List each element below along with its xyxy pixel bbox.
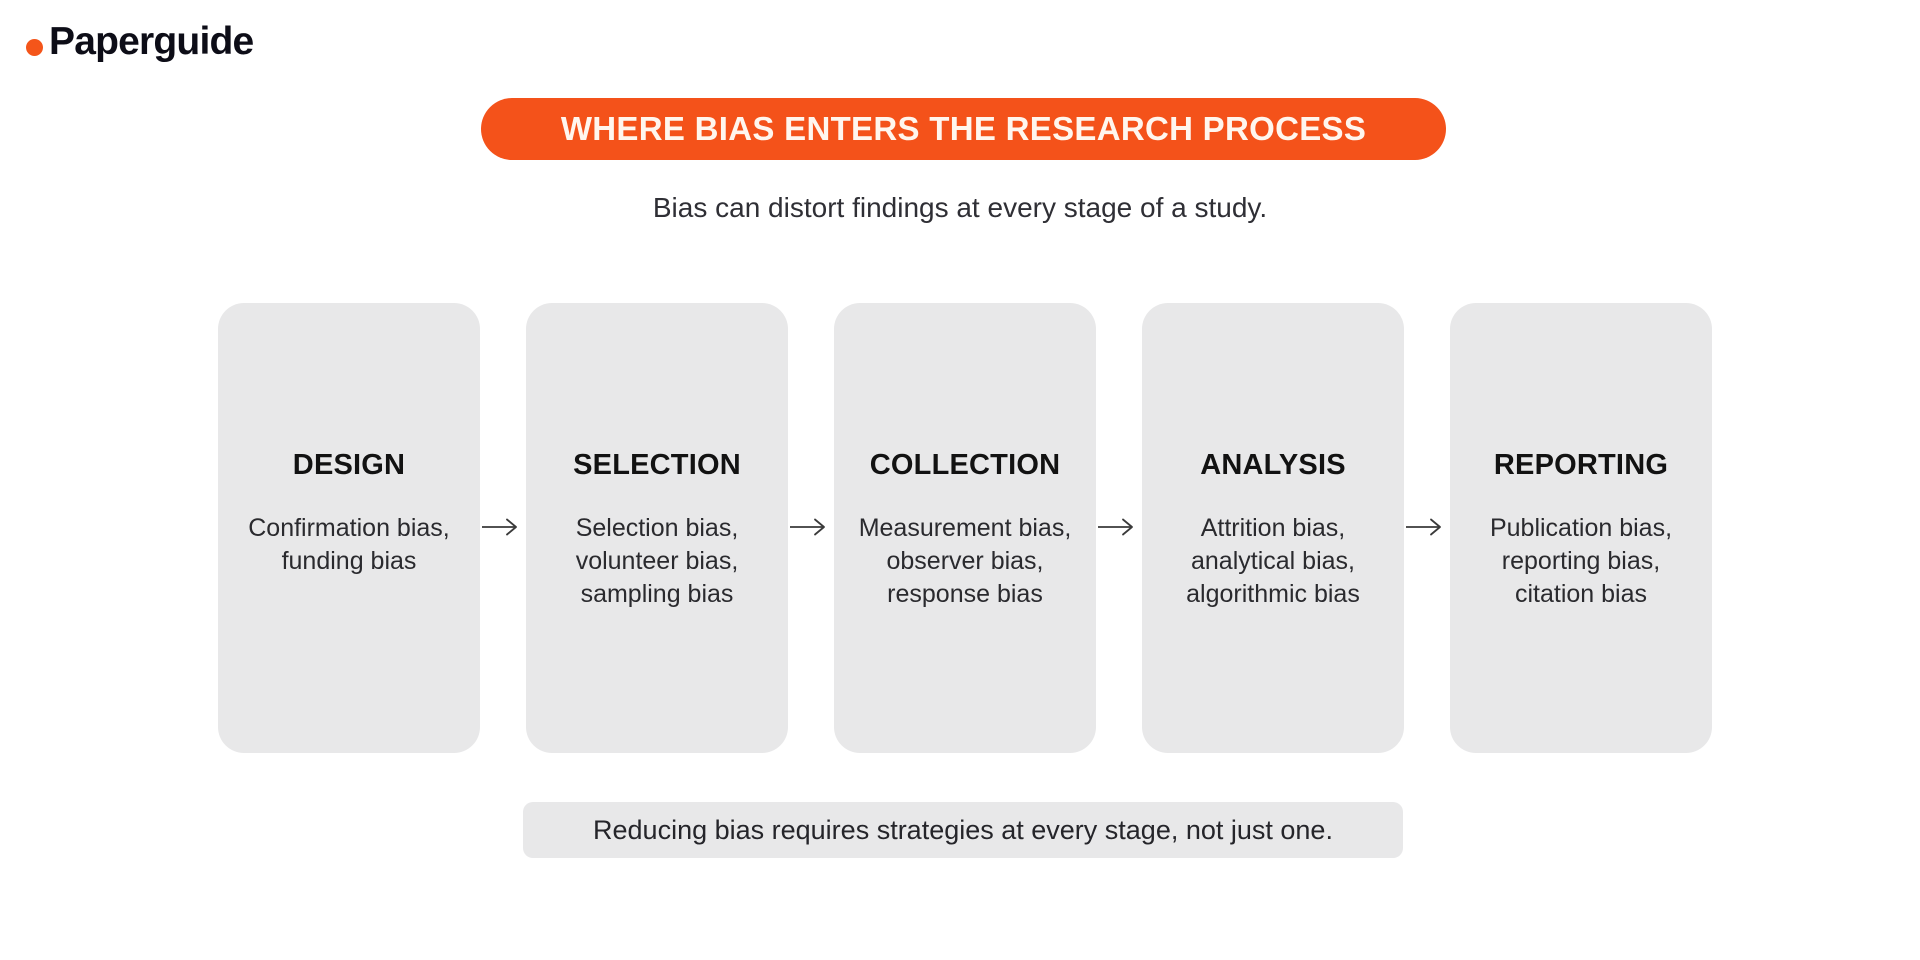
flow-arrow-icon	[1096, 303, 1142, 753]
stage-card-analysis: ANALYSIS Attrition bias, analytical bias…	[1142, 303, 1404, 753]
brand-dot-icon	[26, 39, 43, 56]
page-title: WHERE BIAS ENTERS THE RESEARCH PROCESS	[561, 110, 1366, 148]
flow-arrow-icon	[480, 303, 526, 753]
stage-title: SELECTION	[573, 449, 741, 482]
flow-arrow-icon	[788, 303, 834, 753]
stage-card-reporting: REPORTING Publication bias, reporting bi…	[1450, 303, 1712, 753]
stage-title: ANALYSIS	[1200, 449, 1346, 482]
stage-title: REPORTING	[1494, 449, 1668, 482]
bias-stage-flow: DESIGN Confirmation bias, funding bias S…	[218, 303, 1704, 753]
stage-description: Publication bias, reporting bias, citati…	[1462, 512, 1700, 611]
stage-title: COLLECTION	[870, 449, 1061, 482]
stage-description: Selection bias, volunteer bias, sampling…	[538, 512, 776, 611]
stage-title: DESIGN	[293, 449, 405, 482]
flow-arrow-icon	[1404, 303, 1450, 753]
brand-name: Paperguide	[49, 22, 253, 61]
brand-logo: Paperguide	[26, 22, 253, 61]
stage-description: Attrition bias, analytical bias, algorit…	[1154, 512, 1392, 611]
page-subtitle: Bias can distort findings at every stage…	[0, 192, 1920, 224]
stage-description: Measurement bias, observer bias, respons…	[846, 512, 1084, 611]
footer-note-text: Reducing bias requires strategies at eve…	[593, 815, 1333, 846]
footer-note: Reducing bias requires strategies at eve…	[523, 802, 1403, 858]
stage-card-design: DESIGN Confirmation bias, funding bias	[218, 303, 480, 753]
stage-description: Confirmation bias, funding bias	[230, 512, 468, 578]
stage-card-selection: SELECTION Selection bias, volunteer bias…	[526, 303, 788, 753]
stage-card-collection: COLLECTION Measurement bias, observer bi…	[834, 303, 1096, 753]
title-banner: WHERE BIAS ENTERS THE RESEARCH PROCESS	[481, 98, 1446, 160]
